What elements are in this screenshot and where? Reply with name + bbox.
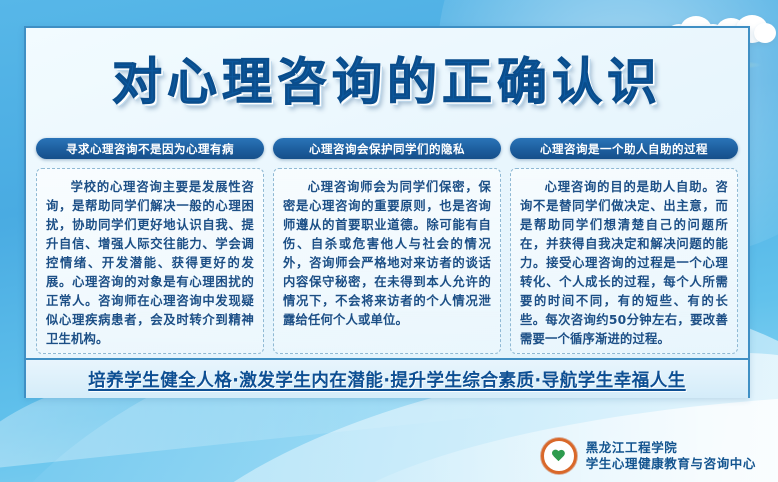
section-body-box-1: 学校的心理咨询主要是发展性咨询，是帮助同学们解决一般的心理困扰，协助同学们更好地… (36, 168, 264, 354)
organization-name: 黑龙江工程学院 (586, 441, 756, 455)
content-panel: 对心理咨询的正确认识 寻求心理咨询不是因为心理有病 心理咨询会保护同学们的隐私 … (24, 26, 750, 398)
psychological-counseling-poster: 对心理咨询的正确认识 寻求心理咨询不是因为心理有病 心理咨询会保护同学们的隐私 … (0, 0, 778, 482)
heart-shape (552, 450, 565, 462)
section-body-text-3: 心理咨询的目的是助人自助。咨询不是替同学们做决定、出主意，而是帮助同学们想清楚自… (520, 178, 728, 349)
heart-emblem-icon (541, 438, 577, 474)
section-body-text-1: 学校的心理咨询主要是发展性咨询，是帮助同学们解决一般的心理困扰，协助同学们更好地… (46, 178, 254, 349)
slogan-text: 培养学生健全人格·激发学生内在潜能·提升学生综合素质·导航学生幸福人生 (88, 367, 685, 392)
cloud-puff-6 (754, 23, 776, 43)
slogan-bar: 培养学生健全人格·激发学生内在潜能·提升学生综合素质·导航学生幸福人生 (26, 358, 748, 398)
footer-branding: 黑龙江工程学院 学生心理健康教育与咨询中心 (541, 438, 756, 474)
section-header-3: 心理咨询是一个助人自助的过程 (510, 138, 738, 159)
section-body-box-2: 心理咨询师会为同学们保密，保密是心理咨询的重要原则，也是咨询师遵从的首要职业道德… (273, 168, 501, 354)
section-header-row: 寻求心理咨询不是因为心理有病 心理咨询会保护同学们的隐私 心理咨询是一个助人自助… (36, 138, 738, 159)
organization-names: 黑龙江工程学院 学生心理健康教育与咨询中心 (586, 441, 756, 471)
section-header-1: 寻求心理咨询不是因为心理有病 (36, 138, 264, 159)
page-title: 对心理咨询的正确认识 (112, 42, 662, 114)
section-body-text-2: 心理咨询师会为同学们保密，保密是心理咨询的重要原则，也是咨询师遵从的首要职业道德… (283, 178, 491, 330)
section-header-2: 心理咨询会保护同学们的隐私 (273, 138, 501, 159)
section-body-box-3: 心理咨询的目的是助人自助。咨询不是替同学们做决定、出主意，而是帮助同学们想清楚自… (510, 168, 738, 354)
title-container: 对心理咨询的正确认识 (26, 42, 748, 114)
department-name: 学生心理健康教育与咨询中心 (586, 457, 756, 471)
section-body-row: 学校的心理咨询主要是发展性咨询，是帮助同学们解决一般的心理困扰，协助同学们更好地… (36, 168, 738, 354)
